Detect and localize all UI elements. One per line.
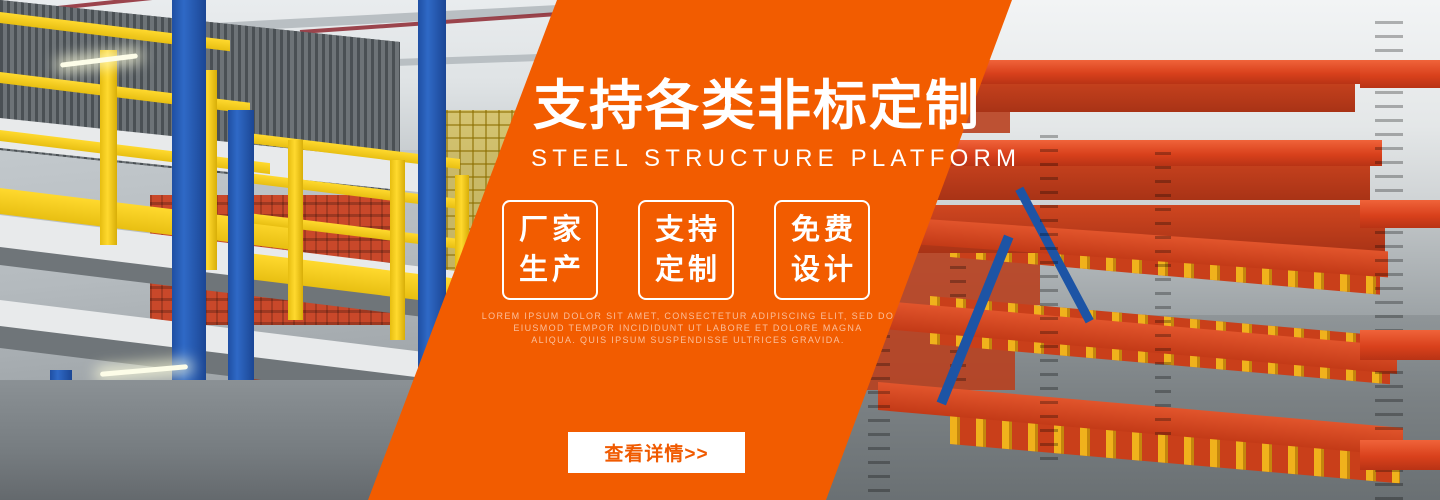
- feature-badge-group: 厂家 生产 支持 定制 免费 设计: [502, 200, 870, 300]
- description-line-3: ALIQUA. QUIS IPSUM SUSPENDISSE ULTRICES …: [448, 334, 928, 346]
- badge-line-2: 生产: [515, 251, 585, 289]
- description-line-2: EIUSMOD TEMPOR INCIDIDUNT UT LABORE ET D…: [448, 322, 928, 334]
- badge-line-2: 定制: [651, 251, 721, 289]
- banner-content: 支持各类非标定制 STEEL STRUCTURE PLATFORM 厂家 生产 …: [0, 0, 1440, 500]
- feature-badge-manufacturer[interactable]: 厂家 生产: [502, 200, 598, 300]
- description-line-1: LOREM IPSUM DOLOR SIT AMET, CONSECTETUR …: [448, 310, 928, 322]
- view-details-button[interactable]: 查看详情>>: [568, 432, 745, 473]
- badge-line-2: 设计: [787, 251, 857, 289]
- headline: 支持各类非标定制: [533, 76, 963, 136]
- badge-line-1: 支持: [651, 211, 721, 249]
- subheadline: STEEL STRUCTURE PLATFORM: [531, 145, 971, 173]
- description-text: LOREM IPSUM DOLOR SIT AMET, CONSECTETUR …: [448, 310, 928, 347]
- badge-line-1: 免费: [787, 211, 857, 249]
- feature-badge-customization[interactable]: 支持 定制: [638, 200, 734, 300]
- promo-banner: 支持各类非标定制 STEEL STRUCTURE PLATFORM 厂家 生产 …: [0, 0, 1440, 500]
- feature-badge-free-design[interactable]: 免费 设计: [774, 200, 870, 300]
- badge-line-1: 厂家: [515, 211, 585, 249]
- view-details-label: 查看详情>>: [604, 439, 708, 466]
